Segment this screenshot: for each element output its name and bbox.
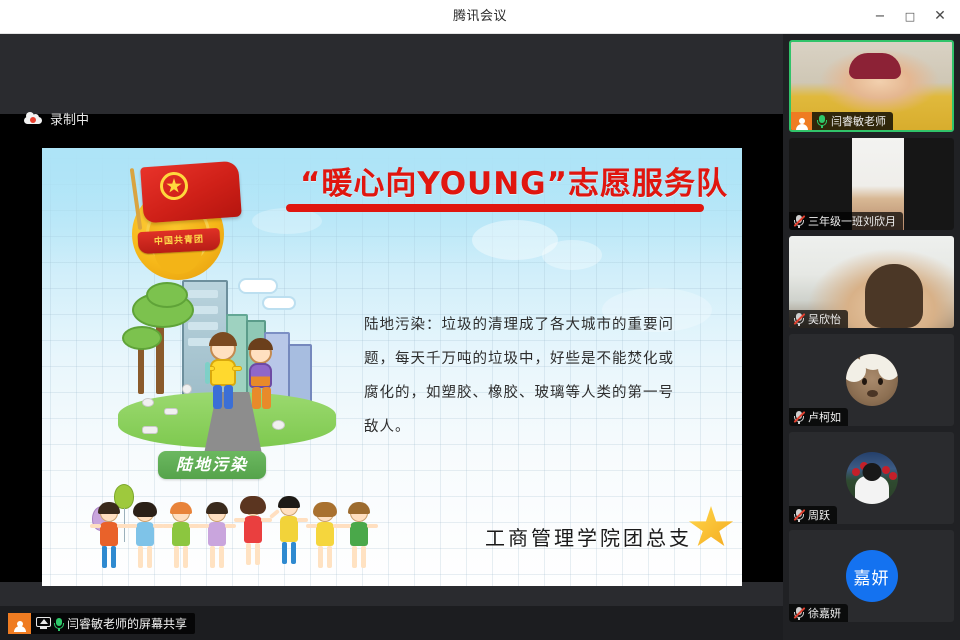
slide-title: “暖心向YOUNG”志愿服务队 — [268, 158, 728, 203]
child-figure — [274, 494, 304, 576]
cloud-icon — [262, 296, 296, 310]
cloud-record-icon — [24, 112, 42, 124]
topic-tag-label: 陆地污染 — [158, 451, 266, 479]
children-row-illustration — [68, 484, 368, 576]
child-figure — [94, 504, 124, 576]
shared-content-frame: 中国共青团 “暖心向YOUNG”志愿服务队 — [0, 114, 783, 582]
shared-screen-stage[interactable]: 录制中 — [0, 34, 783, 606]
person-icon — [791, 112, 812, 130]
slide-title-underline — [286, 204, 704, 212]
child-figure — [166, 504, 196, 576]
participant-name: 周跃 — [808, 507, 830, 523]
microphone-muted-icon[interactable] — [793, 312, 804, 326]
participant-nameplate: 吴欣怡 — [789, 310, 848, 328]
litter-icon — [142, 398, 154, 407]
microphone-muted-icon[interactable] — [793, 508, 804, 522]
cloud-icon — [238, 278, 278, 294]
avatar-initials: 嘉妍 — [846, 550, 898, 602]
participant-nameplate: 徐嘉妍 — [789, 604, 848, 622]
tencent-meeting-window: 腾讯会议 − □ ✕ 录制中 — [0, 0, 960, 640]
microphone-muted-icon[interactable] — [793, 606, 804, 620]
child-figure — [202, 504, 232, 576]
avatar — [846, 452, 898, 504]
participant-name: 吴欣怡 — [808, 311, 841, 327]
avatar — [846, 354, 898, 406]
pollution-illustration — [112, 274, 342, 459]
screen-share-status-chip: 闫睿敏老师的屏幕共享 — [8, 613, 195, 634]
child-figure — [204, 332, 244, 422]
recording-indicator: 录制中 — [24, 108, 89, 128]
participant-tile[interactable]: 卢柯如 — [789, 334, 954, 426]
participant-rail[interactable]: 闫睿敏老师 三年级一班刘欣月 吴欣怡 — [783, 34, 960, 640]
participant-tile[interactable]: 周跃 — [789, 432, 954, 524]
recording-label: 录制中 — [50, 109, 89, 128]
microphone-icon — [53, 617, 64, 631]
microphone-icon[interactable] — [816, 114, 827, 128]
participant-name: 三年级一班刘欣月 — [808, 213, 896, 229]
litter-icon — [272, 420, 285, 430]
litter-icon — [164, 408, 178, 415]
participant-tile[interactable]: 吴欣怡 — [789, 236, 954, 328]
screen-share-label: 闫睿敏老师的屏幕共享 — [64, 615, 195, 632]
communist-youth-league-emblem: 中国共青团 — [108, 162, 256, 282]
participant-name: 徐嘉妍 — [808, 605, 841, 621]
maximize-button[interactable]: □ — [894, 0, 926, 33]
participant-tile[interactable]: 三年级一班刘欣月 — [789, 138, 954, 230]
participant-nameplate: 闫睿敏老师 — [791, 112, 893, 130]
slide-body-text: 陆地污染：垃圾的清理成了各大城市的重要问题，每天千万吨的垃圾中，好些是不能焚化或… — [364, 308, 674, 444]
child-figure — [244, 338, 280, 422]
microphone-muted-icon[interactable] — [793, 214, 804, 228]
child-figure — [344, 504, 374, 576]
participant-name: 闫睿敏老师 — [831, 113, 886, 129]
screen-share-icon — [36, 617, 51, 630]
litter-icon — [182, 384, 192, 394]
microphone-muted-icon[interactable] — [793, 410, 804, 424]
participant-tile[interactable]: 嘉妍 徐嘉妍 — [789, 530, 954, 622]
slide-footer-text: 工商管理学院团总支 — [442, 522, 692, 551]
participant-nameplate: 周跃 — [789, 506, 837, 524]
participant-nameplate: 三年级一班刘欣月 — [789, 212, 903, 230]
participant-name: 卢柯如 — [808, 409, 841, 425]
child-figure — [310, 504, 340, 576]
child-figure — [238, 498, 268, 576]
emblem-banner-text: 中国共青团 — [137, 228, 220, 254]
presentation-slide: 中国共青团 “暖心向YOUNG”志愿服务队 — [42, 148, 742, 586]
close-button[interactable]: ✕ — [924, 0, 956, 33]
litter-icon — [142, 426, 158, 434]
tree-icon — [138, 344, 144, 394]
person-icon — [8, 613, 31, 634]
title-bar: 腾讯会议 − □ ✕ — [0, 0, 960, 34]
child-figure — [130, 504, 160, 576]
cloud-swirl-icon — [542, 240, 602, 270]
bottom-bar: 闫睿敏老师的屏幕共享 — [0, 606, 783, 640]
window-title: 腾讯会议 — [0, 0, 960, 33]
participant-tile[interactable]: 闫睿敏老师 — [789, 40, 954, 132]
participant-nameplate: 卢柯如 — [789, 408, 848, 426]
minimize-button[interactable]: − — [864, 0, 896, 33]
topic-tag: 陆地污染 — [158, 451, 266, 479]
